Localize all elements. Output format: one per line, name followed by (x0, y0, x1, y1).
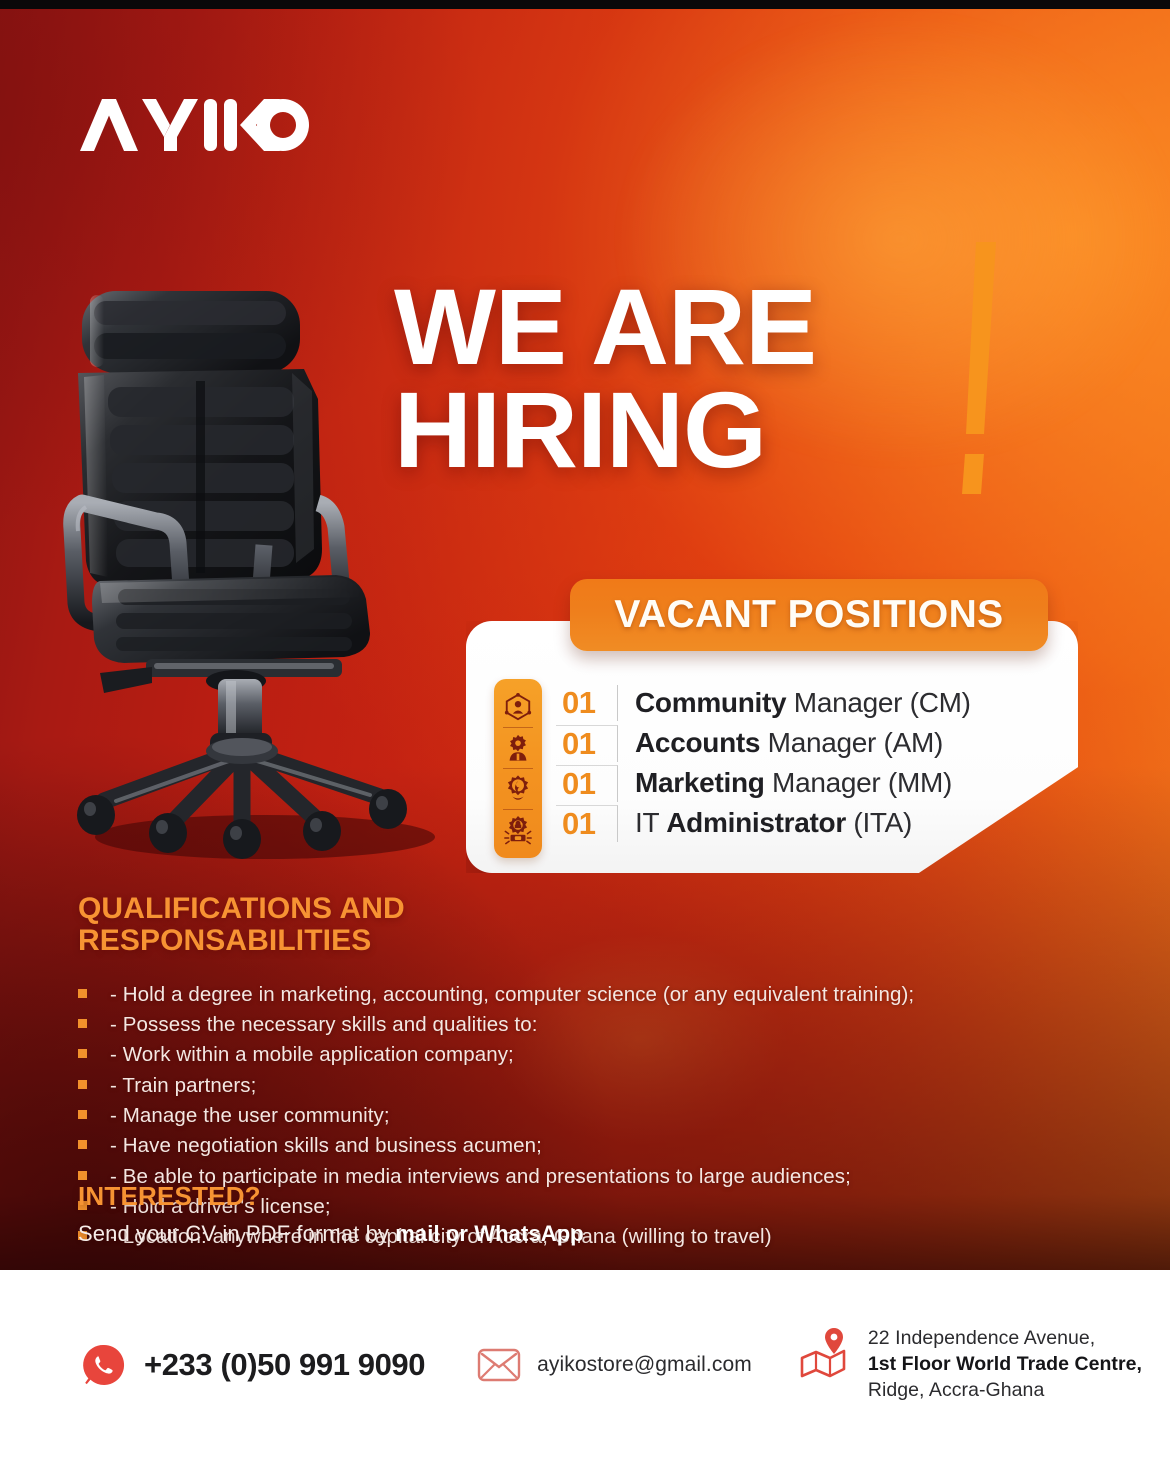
bullet-square-icon (78, 1171, 87, 1180)
vacant-positions-card: VACANT POSITIONS (466, 621, 1078, 883)
bullet-square-icon (78, 989, 87, 998)
it-security-lock-icon (500, 810, 536, 850)
vacant-positions-body: 01 Community Manager (CM) 01 Accounts Ma… (494, 679, 971, 858)
footer-contact-bar: +233 (0)50 991 9090 ayikostore@gmail.com… (0, 1270, 1170, 1460)
footer-address[interactable]: 22 Independence Avenue, 1st Floor World … (798, 1326, 1142, 1403)
hero-panel: WE ARE HIRING VACANT POSITIONS (0, 9, 1170, 1270)
qualification-text: - Work within a mobile application compa… (110, 1040, 514, 1070)
qualification-text: - Hold a degree in marketing, accounting… (110, 980, 914, 1010)
bullet-square-icon (78, 1140, 87, 1149)
headline: WE ARE HIRING (394, 277, 1074, 480)
vacancy-title: Accounts Manager (AM) (618, 727, 943, 759)
qualification-item: - Manage the user community; (78, 1101, 978, 1131)
qualification-item: - Train partners; (78, 1071, 978, 1101)
vacancy-title-bold: Accounts (635, 727, 760, 758)
hiring-poster: WE ARE HIRING VACANT POSITIONS (0, 0, 1170, 1460)
vacancy-title-rest: (ITA) (846, 807, 912, 838)
community-network-icon (500, 687, 536, 727)
vacant-positions-banner: VACANT POSITIONS (570, 579, 1048, 651)
qualification-text: - Possess the necessary skills and quali… (110, 1010, 538, 1040)
footer-address-line3: Ridge, Accra-Ghana (868, 1378, 1142, 1404)
exclamation-mark-icon (962, 242, 996, 497)
accounts-person-gear-icon (500, 728, 536, 768)
footer-email[interactable]: ayikostore@gmail.com (477, 1348, 752, 1382)
marketing-gear-hand-icon (500, 769, 536, 809)
vacancy-count: 01 (556, 725, 618, 762)
office-chair-image (60, 281, 450, 871)
vacancy-count: 01 (556, 765, 618, 802)
qualification-item: - Have negotiation skills and business a… (78, 1131, 978, 1161)
office-chair-icon (60, 281, 450, 871)
vacant-positions-banner-label: VACANT POSITIONS (614, 593, 1003, 637)
interested-section: INTERESTED? Send your CV in PDF format b… (78, 1181, 584, 1247)
vacancy-row[interactable]: 01 Accounts Manager (AM) (556, 723, 971, 763)
vacancy-rows: 01 Community Manager (CM) 01 Accounts Ma… (556, 679, 971, 843)
vacancy-count: 01 (556, 685, 618, 721)
qualifications-title: QUALIFICATIONS AND RESPONSABILITIES (78, 893, 978, 958)
qualification-text: - Have negotiation skills and business a… (110, 1131, 542, 1161)
vacancy-title-rest: Manager (CM) (786, 687, 970, 718)
qualifications-title-line2: RESPONSABILITIES (78, 924, 371, 957)
envelope-icon (477, 1348, 521, 1382)
position-icon-column (494, 679, 542, 858)
bullet-square-icon (78, 1110, 87, 1119)
vacancy-title-bold: Community (635, 687, 786, 718)
vacancy-row[interactable]: 01 Marketing Manager (MM) (556, 763, 971, 803)
vacancy-title-pre: IT (635, 807, 666, 838)
bullet-square-icon (78, 1080, 87, 1089)
footer-address-line1: 22 Independence Avenue, (868, 1326, 1142, 1352)
map-pin-icon (798, 1326, 852, 1378)
interested-text-plain: Send your CV in PDF format by (78, 1221, 395, 1246)
vacancy-count: 01 (556, 805, 618, 842)
qualification-item: - Possess the necessary skills and quali… (78, 1010, 978, 1040)
qualifications-title-line1: QUALIFICATIONS AND (78, 892, 405, 925)
footer-phone[interactable]: +233 (0)50 991 9090 (82, 1343, 425, 1387)
interested-title: INTERESTED? (78, 1181, 584, 1212)
ayiko-logo-icon (78, 97, 310, 153)
whatsapp-icon (82, 1343, 126, 1387)
vacancy-title-rest: Manager (MM) (765, 767, 952, 798)
qualification-item: - Work within a mobile application compa… (78, 1040, 978, 1070)
vacancy-title: Marketing Manager (MM) (618, 767, 952, 799)
interested-text: Send your CV in PDF format by mail or Wh… (78, 1221, 584, 1247)
vacancy-row[interactable]: 01 Community Manager (CM) (556, 683, 971, 723)
bullet-square-icon (78, 1049, 87, 1058)
vacancy-title-bold: Marketing (635, 767, 765, 798)
footer-email-text: ayikostore@gmail.com (537, 1353, 752, 1377)
vacancy-title-rest: Manager (AM) (760, 727, 943, 758)
footer-phone-text: +233 (0)50 991 9090 (144, 1347, 425, 1383)
vacancy-title: Community Manager (CM) (618, 687, 971, 719)
ayiko-logo (78, 97, 310, 153)
footer-address-line2: 1st Floor World Trade Centre, (868, 1352, 1142, 1378)
footer-address-lines: 22 Independence Avenue, 1st Floor World … (868, 1326, 1142, 1403)
vacancy-title: IT Administrator (ITA) (618, 807, 912, 839)
qualification-text: - Train partners; (110, 1071, 256, 1101)
qualification-text: - Manage the user community; (110, 1101, 390, 1131)
top-black-bar (0, 0, 1170, 9)
bullet-square-icon (78, 1019, 87, 1028)
vacancy-row[interactable]: 01 IT Administrator (ITA) (556, 803, 971, 843)
interested-text-bold: mail or WhatsApp (395, 1221, 584, 1246)
vacancy-title-bold: Administrator (666, 807, 846, 838)
qualification-item: - Hold a degree in marketing, accounting… (78, 980, 978, 1010)
